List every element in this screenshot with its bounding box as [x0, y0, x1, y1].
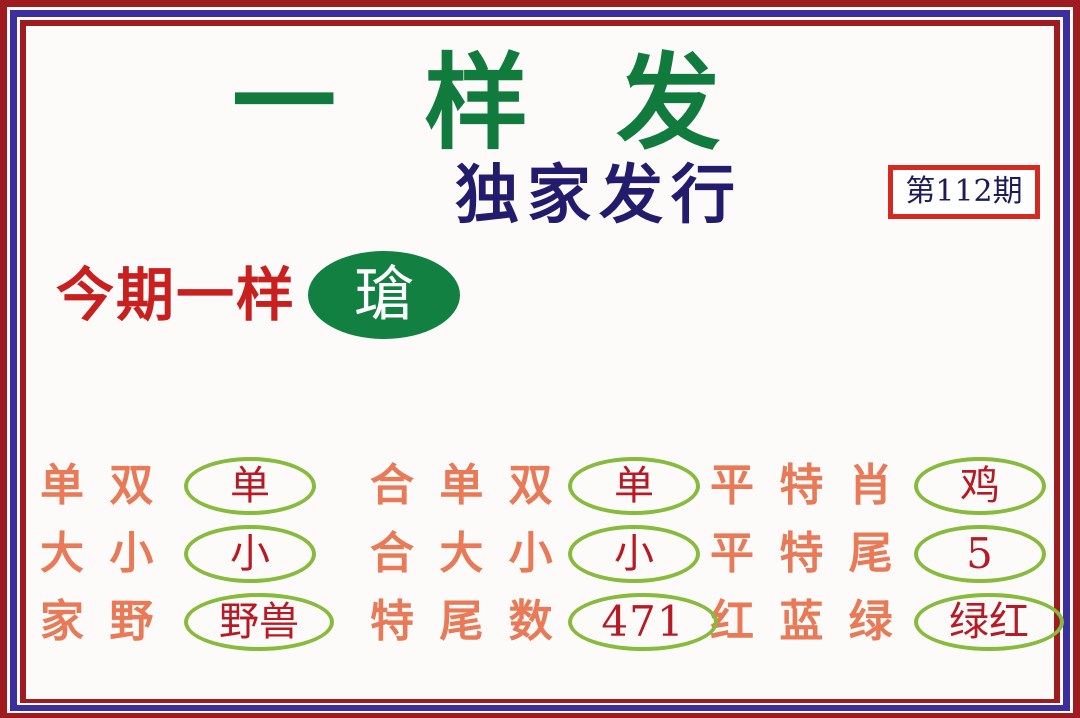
result-label: 平 特 肖: [710, 461, 906, 511]
page-subtitle: 独家发行: [455, 160, 875, 232]
page-title: 一 样 发: [232, 48, 792, 158]
result-value-ring: 绿红: [914, 593, 1064, 651]
result-value: 5: [966, 532, 994, 576]
result-value-ring: 小: [184, 525, 316, 583]
result-value-ring: 单: [568, 457, 700, 515]
result-value-ring: 471: [568, 593, 718, 651]
result-cell-ping-te-xiao: 平 特 肖 鸡: [710, 452, 1040, 520]
highlight-row: 今期一样 瑲: [56, 248, 460, 342]
poster-root: 一 样 发 独家发行 第112期 今期一样 瑲 单 双 单 合 单 双 单 平 …: [0, 0, 1080, 718]
result-label: 合 单 双: [370, 461, 560, 511]
result-label: 平 特 尾: [710, 529, 906, 579]
result-label: 家 野: [40, 597, 176, 647]
results-grid: 单 双 单 合 单 双 单 平 特 肖 鸡 大 小 小 合 大 小: [40, 452, 1040, 657]
result-value-ring: 鸡: [914, 457, 1046, 515]
result-cell-he-dan-shuang: 合 单 双 单: [370, 452, 710, 520]
result-cell-hong-lan-lv: 红 蓝 绿 绿红: [710, 588, 1040, 656]
issue-number-badge: 第112期: [888, 165, 1040, 219]
result-value-ring: 单: [184, 457, 316, 515]
result-value: 单: [614, 464, 654, 508]
result-label: 大 小: [40, 529, 176, 579]
result-value-ring: 5: [914, 525, 1046, 583]
highlight-value: 瑲: [354, 263, 414, 327]
result-label: 红 蓝 绿: [710, 597, 906, 647]
result-value: 野兽: [219, 600, 299, 644]
result-cell-jia-ye: 家 野 野兽: [40, 588, 370, 656]
result-value: 单: [230, 464, 270, 508]
result-cell-he-da-xiao: 合 大 小 小: [370, 520, 710, 588]
highlight-label: 今期一样: [56, 263, 296, 327]
result-cell-da-xiao: 大 小 小: [40, 520, 370, 588]
result-value-ring: 小: [568, 525, 700, 583]
result-value: 鸡: [960, 464, 1000, 508]
result-label: 特 尾 数: [370, 597, 560, 647]
result-value: 绿红: [949, 600, 1029, 644]
result-value-ring: 野兽: [184, 593, 334, 651]
result-value: 小: [614, 532, 654, 576]
result-value: 471: [601, 600, 684, 644]
result-cell-ping-te-wei: 平 特 尾 5: [710, 520, 1040, 588]
result-label: 单 双: [40, 461, 176, 511]
result-value: 小: [230, 532, 270, 576]
highlight-oval-badge: 瑲: [308, 251, 460, 339]
result-label: 合 大 小: [370, 529, 560, 579]
result-cell-te-wei-shu: 特 尾 数 471: [370, 588, 710, 656]
result-cell-dan-shuang: 单 双 单: [40, 452, 370, 520]
